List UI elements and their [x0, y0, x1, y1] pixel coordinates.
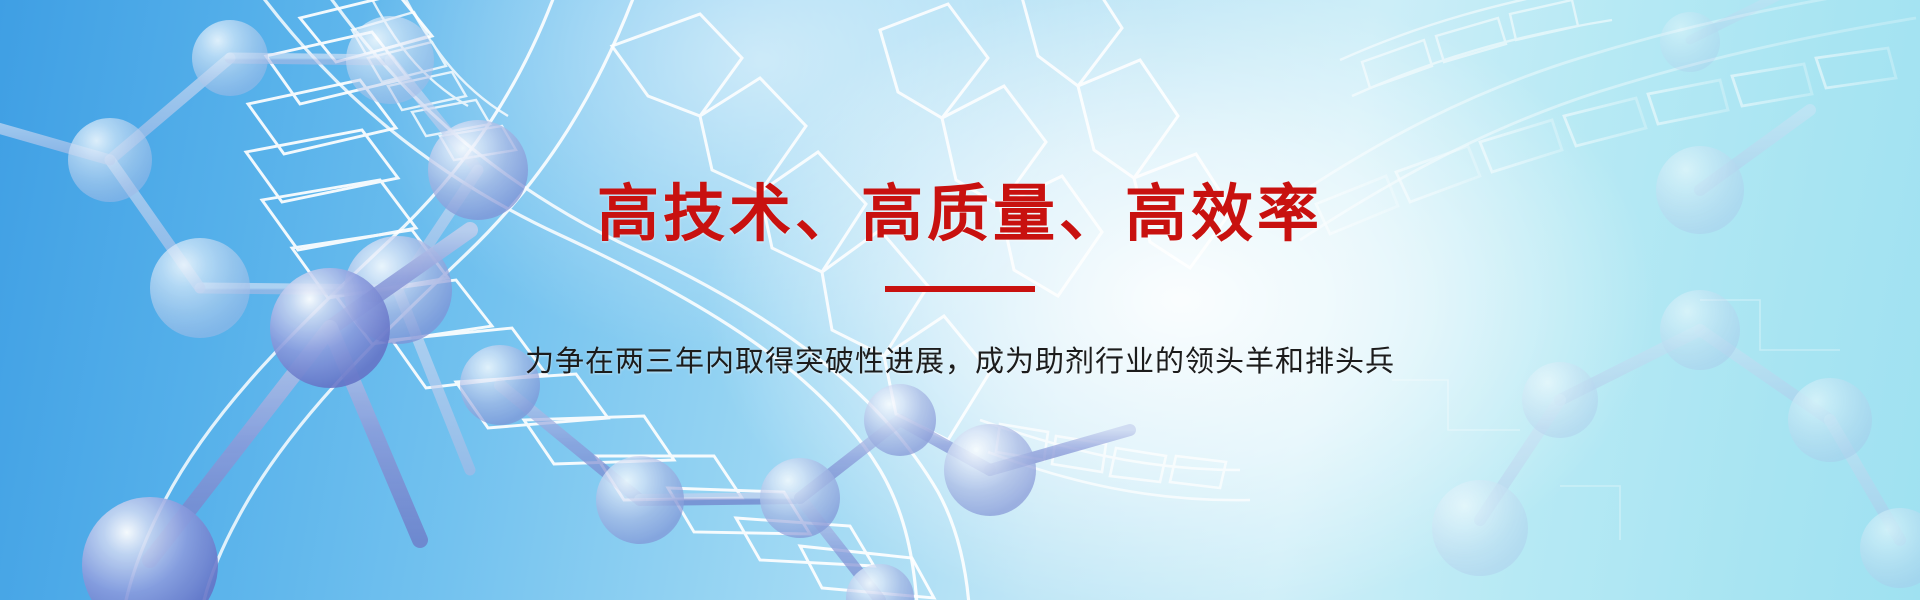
- banner-subtitle: 力争在两三年内取得突破性进展，成为助剂行业的领头羊和排头兵: [525, 338, 1395, 380]
- hero-banner: 高技术、高质量、高效率 力争在两三年内取得突破性进展，成为助剂行业的领头羊和排头…: [0, 0, 1920, 600]
- banner-content: 高技术、高质量、高效率 力争在两三年内取得突破性进展，成为助剂行业的领头羊和排头…: [0, 0, 1920, 600]
- banner-title: 高技术、高质量、高效率: [597, 184, 1323, 246]
- title-divider: [885, 286, 1035, 292]
